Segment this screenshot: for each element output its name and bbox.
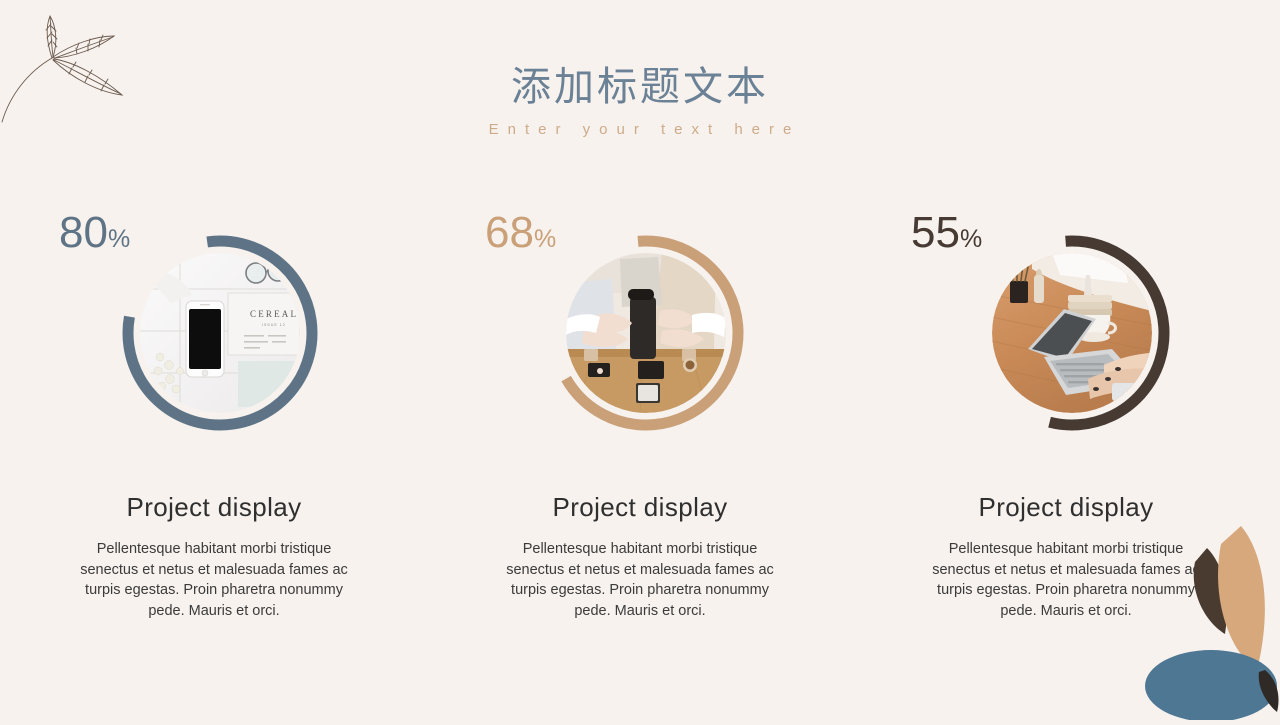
page-title: 添加标题文本 xyxy=(0,62,1280,112)
stat-photo-2 xyxy=(566,253,726,413)
stat-photo-3 xyxy=(992,253,1152,413)
stat-photo-1: CEREAL ISSUE 12 xyxy=(140,253,300,413)
svg-text:ISSUE 12: ISSUE 12 xyxy=(262,323,286,327)
slide-header: 添加标题文本 Enter your text here xyxy=(0,62,1280,138)
stat-title-2: Project display xyxy=(552,492,727,523)
stat-percent-3: 55% xyxy=(911,211,982,255)
stat-percent-value-3: 55 xyxy=(911,208,960,257)
page-subtitle: Enter your text here xyxy=(0,121,1280,138)
stat-percent-value-2: 68 xyxy=(485,208,534,257)
svg-text:CEREAL: CEREAL xyxy=(250,309,298,319)
stat-percent-2: 68% xyxy=(485,211,556,255)
percent-symbol-3: % xyxy=(960,225,982,253)
stat-column-3[interactable]: 55% Project display Pellentesque habitan… xyxy=(853,205,1279,621)
stat-column-2[interactable]: 68% Project display Pellentesque habitan… xyxy=(427,205,853,621)
stat-title-1: Project display xyxy=(126,492,301,523)
percent-symbol-2: % xyxy=(534,225,556,253)
stat-body-1: Pellentesque habitant morbi tristique se… xyxy=(70,539,358,621)
progress-ring-1: CEREAL ISSUE 12 xyxy=(99,205,329,435)
stat-title-3: Project display xyxy=(978,492,1153,523)
stat-percent-1: 80% xyxy=(59,211,130,255)
progress-ring-2: 68% xyxy=(525,205,755,435)
stat-body-3: Pellentesque habitant morbi tristique se… xyxy=(922,539,1210,621)
stat-body-2: Pellentesque habitant morbi tristique se… xyxy=(496,539,784,621)
percent-symbol-1: % xyxy=(108,225,130,253)
stat-percent-value-1: 80 xyxy=(59,208,108,257)
stat-columns: CEREAL ISSUE 12 xyxy=(0,205,1280,621)
stat-column-1[interactable]: CEREAL ISSUE 12 xyxy=(1,205,427,621)
progress-ring-3: 55% xyxy=(951,205,1181,435)
